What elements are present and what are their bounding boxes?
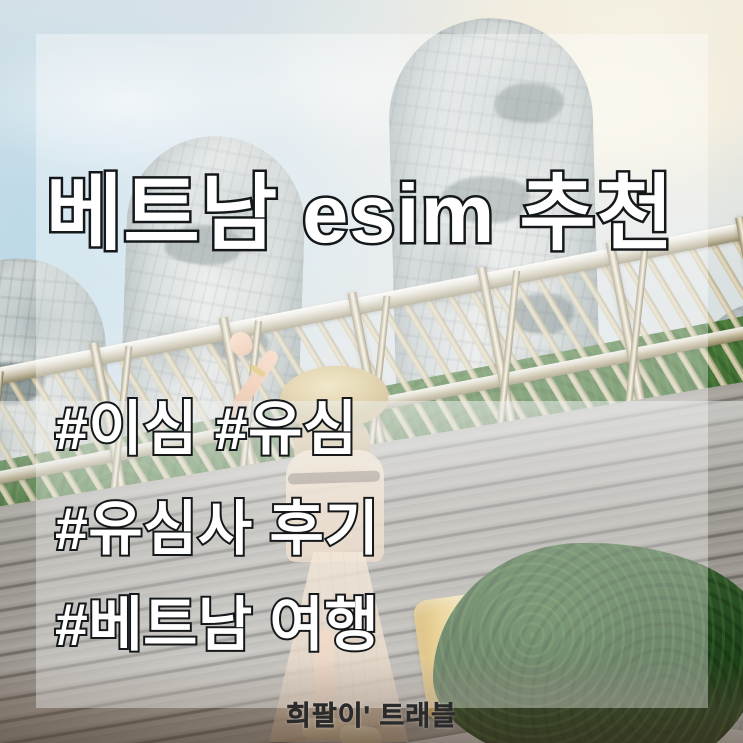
headline-title: 베트남 esim 추천 (46, 172, 674, 255)
text-layer: 베트남 esim 추천 #이심 #유심 #유심사 후기 #베트남 여행 희팔이'… (0, 0, 743, 743)
channel-watermark: 희팔이' 트래블 (0, 694, 743, 733)
tagline-2: #유심사 후기 (55, 500, 379, 559)
tagline-1: #이심 #유심 (55, 400, 358, 459)
poster-canvas: 베트남 esim 추천 #이심 #유심 #유심사 후기 #베트남 여행 희팔이'… (0, 0, 743, 743)
tagline-3: #베트남 여행 (55, 596, 379, 655)
